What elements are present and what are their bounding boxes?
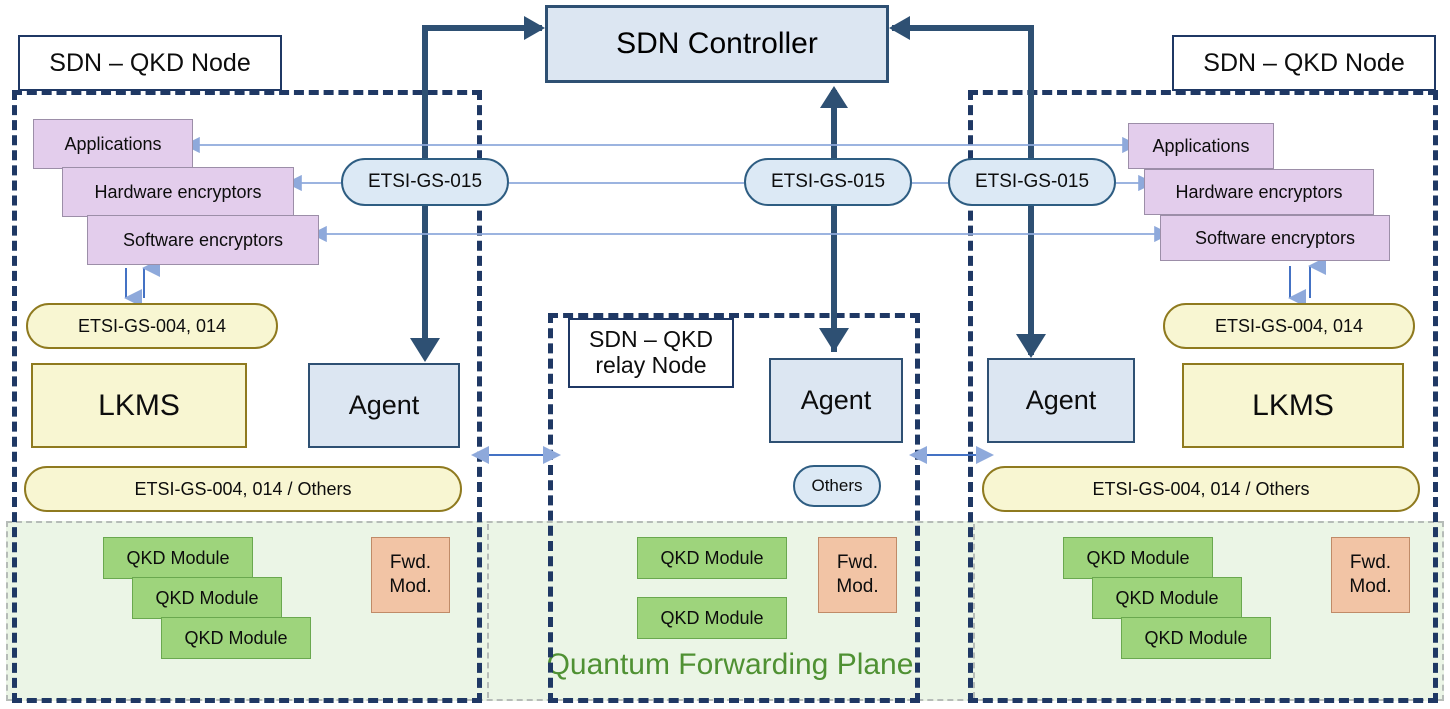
right-qkd-module-1[interactable]: QKD Module: [1063, 537, 1213, 579]
left-etsi-gs-015-pill[interactable]: ETSI-GS-015: [341, 158, 509, 206]
left-qkd-module-1[interactable]: QKD Module: [103, 537, 253, 579]
right-software-encryptors[interactable]: Software encryptors: [1160, 215, 1390, 261]
relay-fwd-module-line1: Fwd.: [837, 551, 878, 575]
right-fwd-module-line2: Mod.: [1349, 575, 1391, 599]
relay-fwd-module-line2: Mod.: [836, 575, 878, 599]
relay-qkd-module-2[interactable]: QKD Module: [637, 597, 787, 639]
node-title-relay-line1: SDN – QKD: [589, 327, 713, 353]
left-lkms[interactable]: LKMS: [31, 363, 247, 448]
left-agent[interactable]: Agent: [308, 363, 460, 448]
left-fwd-module[interactable]: Fwd. Mod.: [371, 537, 450, 613]
left-applications[interactable]: Applications: [33, 119, 193, 169]
left-upper-api-pill[interactable]: ETSI-GS-004, 014: [26, 303, 278, 349]
right-etsi-gs-015-pill[interactable]: ETSI-GS-015: [948, 158, 1116, 206]
right-upper-api-pill[interactable]: ETSI-GS-004, 014: [1163, 303, 1415, 349]
relay-etsi-gs-015-pill[interactable]: ETSI-GS-015: [744, 158, 912, 206]
right-lkms[interactable]: LKMS: [1182, 363, 1404, 448]
left-qkd-module-2[interactable]: QKD Module: [132, 577, 282, 619]
right-fwd-module[interactable]: Fwd. Mod.: [1331, 537, 1410, 613]
right-agent[interactable]: Agent: [987, 358, 1135, 443]
right-qkd-module-3[interactable]: QKD Module: [1121, 617, 1271, 659]
controller-link-left-horizontal: [422, 25, 542, 31]
relay-fwd-module[interactable]: Fwd. Mod.: [818, 537, 897, 613]
node-title-relay: SDN – QKD relay Node: [568, 318, 734, 388]
node-title-right: SDN – QKD Node: [1172, 35, 1436, 91]
left-qkd-module-3[interactable]: QKD Module: [161, 617, 311, 659]
relay-qkd-module-1[interactable]: QKD Module: [637, 537, 787, 579]
left-software-encryptors[interactable]: Software encryptors: [87, 215, 319, 265]
right-qkd-module-2[interactable]: QKD Module: [1092, 577, 1242, 619]
left-fwd-module-line2: Mod.: [389, 575, 431, 599]
right-lower-api-pill[interactable]: ETSI-GS-004, 014 / Others: [982, 466, 1420, 512]
left-fwd-module-line1: Fwd.: [390, 551, 431, 575]
relay-agent[interactable]: Agent: [769, 358, 903, 443]
node-title-relay-line2: relay Node: [595, 353, 706, 379]
right-hardware-encryptors[interactable]: Hardware encryptors: [1144, 169, 1374, 215]
relay-others-pill[interactable]: Others: [793, 465, 881, 507]
sdn-controller[interactable]: SDN Controller: [545, 5, 889, 83]
controller-link-middle-vertical: [831, 90, 837, 352]
left-hardware-encryptors[interactable]: Hardware encryptors: [62, 167, 294, 217]
controller-link-right-horizontal: [892, 25, 1034, 31]
node-title-left: SDN – QKD Node: [18, 35, 282, 91]
left-lower-api-pill[interactable]: ETSI-GS-004, 014 / Others: [24, 466, 462, 512]
right-applications[interactable]: Applications: [1128, 123, 1274, 169]
right-fwd-module-line1: Fwd.: [1350, 551, 1391, 575]
diagram-canvas: Quantum Forwarding Plane SDN – QKD Node …: [0, 0, 1450, 709]
